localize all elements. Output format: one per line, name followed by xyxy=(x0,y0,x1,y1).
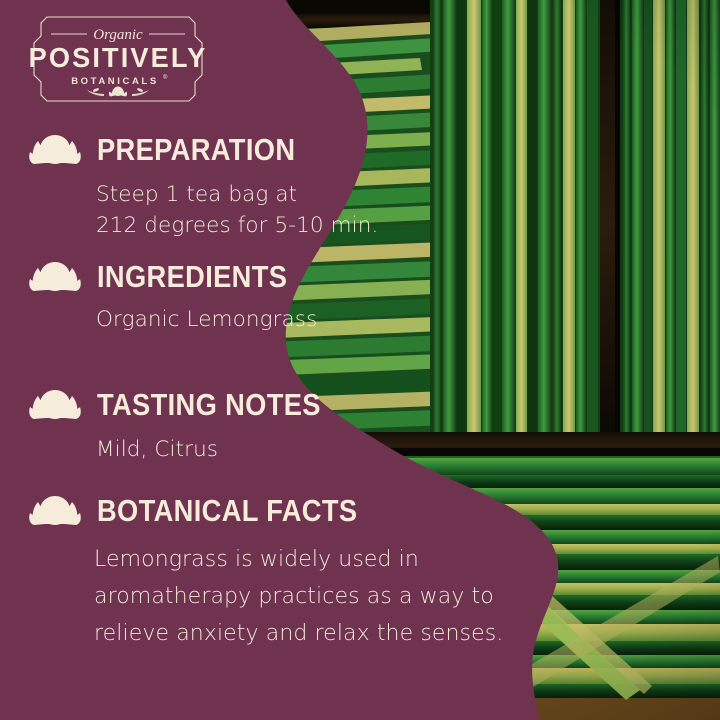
svg-text:®: ® xyxy=(163,74,168,81)
scallop-shell-icon xyxy=(29,132,81,166)
section-body: Steep 1 tea bag at 212 degrees for 5-10 … xyxy=(0,179,520,241)
section-tasting-notes: TASTING NOTES Mild, Citrus xyxy=(0,387,520,465)
section-body: Lemongrass is widely used in aromatherap… xyxy=(0,541,520,652)
section-botanical-facts: BOTANICAL FACTS Lemongrass is widely use… xyxy=(0,493,520,652)
svg-text:POSITIVELY: POSITIVELY xyxy=(29,42,208,73)
scallop-shell-icon xyxy=(29,493,81,527)
section-body: Organic Lemongrass xyxy=(0,304,520,335)
section-ingredients: INGREDIENTS Organic Lemongrass xyxy=(0,259,520,335)
section-heading: INGREDIENTS xyxy=(97,261,287,292)
svg-text:Organic: Organic xyxy=(93,27,143,43)
section-heading: TASTING NOTES xyxy=(97,389,321,420)
scallop-shell-icon xyxy=(29,259,81,293)
product-info-card: Organic POSITIVELY BOTANICALS ® xyxy=(0,0,720,720)
section-body: Mild, Citrus xyxy=(0,434,520,465)
svg-text:BOTANICALS: BOTANICALS xyxy=(71,76,159,87)
scallop-shell-icon xyxy=(29,387,81,421)
brand-logo[interactable]: Organic POSITIVELY BOTANICALS ® xyxy=(27,14,209,104)
section-preparation: PREPARATION Steep 1 tea bag at 212 degre… xyxy=(0,132,520,241)
section-heading: BOTANICAL FACTS xyxy=(97,495,357,526)
section-heading: PREPARATION xyxy=(97,134,295,165)
